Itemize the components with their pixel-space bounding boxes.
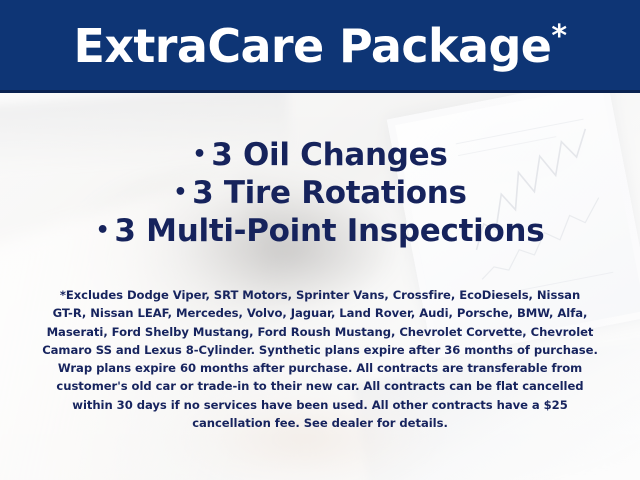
disclaimer-line: *Excludes Dodge Viper, SRT Motors, Sprin… <box>26 286 614 304</box>
extracare-package-ad: ExtraCare Package* •3 Oil Changes •3 Tir… <box>0 0 640 480</box>
disclaimer-line: cancellation fee. See dealer for details… <box>26 414 614 432</box>
page-title: ExtraCare Package* <box>74 22 567 69</box>
header-band: ExtraCare Package* <box>0 0 640 90</box>
disclaimer-line: within 30 days if no services have been … <box>26 396 614 414</box>
list-item: •3 Multi-Point Inspections <box>0 212 640 250</box>
disclaimer-line: Wrap plans expire 60 months after purcha… <box>26 359 614 377</box>
bullet-dot-icon: • <box>192 142 206 167</box>
page-title-asterisk: * <box>551 19 566 54</box>
disclaimer-line: Maserati, Ford Shelby Mustang, Ford Rous… <box>26 323 614 341</box>
list-item-label: 3 Oil Changes <box>211 137 447 173</box>
offer-bullet-list: •3 Oil Changes •3 Tire Rotations •3 Mult… <box>0 136 640 250</box>
list-item: •3 Oil Changes <box>0 136 640 174</box>
header-divider <box>0 90 640 93</box>
disclaimer-line: Camaro SS and Lexus 8-Cylinder. Syntheti… <box>26 341 614 359</box>
list-item: •3 Tire Rotations <box>0 174 640 212</box>
bullet-dot-icon: • <box>173 180 187 205</box>
list-item-label: 3 Multi-Point Inspections <box>114 213 544 249</box>
disclaimer-block: *Excludes Dodge Viper, SRT Motors, Sprin… <box>26 286 614 432</box>
bullet-dot-icon: • <box>96 218 110 243</box>
list-item-label: 3 Tire Rotations <box>192 175 467 211</box>
disclaimer-line: customer's old car or trade-in to their … <box>26 377 614 395</box>
disclaimer-line: GT-R, Nissan LEAF, Mercedes, Volvo, Jagu… <box>26 304 614 322</box>
page-title-text: ExtraCare Package <box>74 19 552 73</box>
